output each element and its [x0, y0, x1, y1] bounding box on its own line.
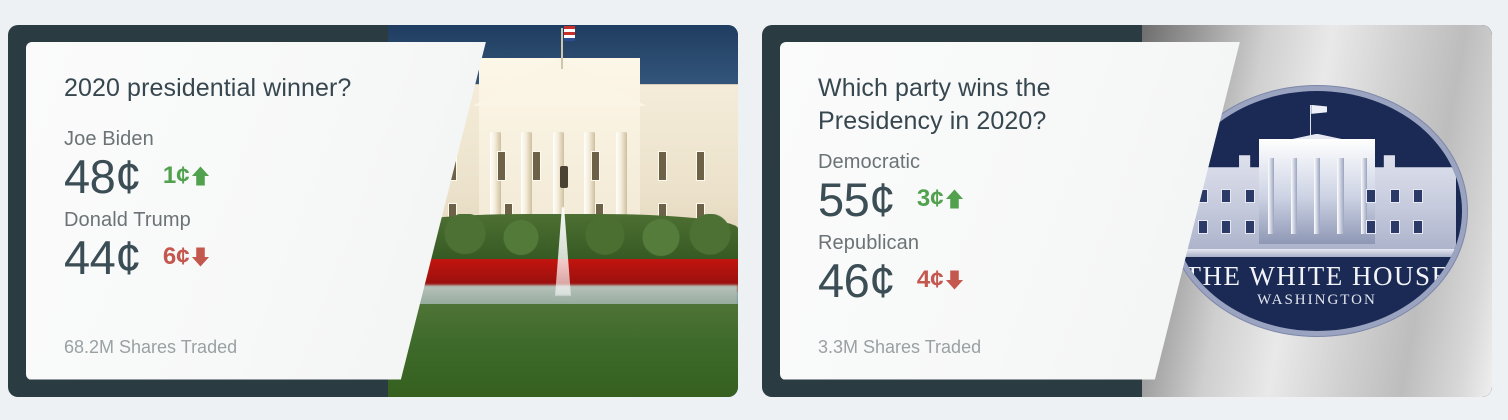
photo-window: [658, 151, 667, 181]
outcome-change-up: 1¢: [163, 164, 210, 188]
seal-column: [1291, 158, 1297, 235]
market-card-presidential-winner[interactable]: 2020 presidential winner? Joe Biden 48¢ …: [8, 25, 738, 397]
arrow-up-icon: [191, 165, 210, 187]
outcome-change-down: 6¢: [163, 245, 210, 269]
arrow-up-icon: [945, 188, 964, 210]
seal-window: [1366, 220, 1376, 234]
outcome-change-down: 4¢: [917, 268, 964, 292]
seal-column: [1314, 158, 1320, 235]
outcome-row[interactable]: Joe Biden 48¢ 1¢: [64, 127, 486, 204]
photo-window: [497, 151, 506, 181]
outcome-price: 44¢: [64, 231, 141, 285]
arrow-down-icon: [945, 269, 964, 291]
seal-column: [1268, 158, 1274, 235]
seal-window: [1390, 189, 1400, 203]
seal-window: [1221, 220, 1231, 234]
seal-window: [1366, 189, 1376, 203]
outcome-row[interactable]: Democratic 55¢ 3¢: [818, 150, 1240, 227]
photo-us-flag: [564, 26, 575, 41]
seal-window: [1413, 189, 1423, 203]
outcome-price: 48¢: [64, 150, 141, 204]
seal-window: [1245, 220, 1255, 234]
shares-traded-label: 68.2M Shares Traded: [64, 337, 237, 358]
outcome-change-value: 6¢: [163, 245, 190, 269]
photo-window: [696, 151, 705, 181]
outcome-price: 46¢: [818, 254, 895, 308]
outcome-list: Democratic 55¢ 3¢ Republican: [818, 150, 1240, 308]
arrow-down-icon: [191, 246, 210, 268]
outcome-price-row: 48¢ 1¢: [64, 150, 486, 204]
market-question-title: 2020 presidential winner?: [64, 72, 374, 105]
market-card-party-wins-presidency[interactable]: THE WHITE HOUSE WASHINGTON Which party w…: [762, 25, 1492, 397]
seal-window: [1245, 189, 1255, 203]
outcome-change-up: 3¢: [917, 187, 964, 211]
seal-column: [1337, 158, 1343, 235]
outcome-name: Donald Trump: [64, 208, 486, 233]
seal-window: [1198, 220, 1208, 234]
outcome-row[interactable]: Donald Trump 44¢ 6¢: [64, 208, 486, 285]
seal-basement-line: [1178, 249, 1456, 257]
market-question-title: Which party wins the Presidency in 2020?: [818, 72, 1128, 138]
seal-window: [1413, 220, 1423, 234]
photo-window: [591, 151, 600, 181]
outcome-change-value: 3¢: [917, 187, 944, 211]
shares-traded-label: 3.3M Shares Traded: [818, 337, 981, 358]
outcome-list: Joe Biden 48¢ 1¢ Donald Trump: [64, 127, 486, 285]
seal-flag: [1310, 105, 1312, 136]
market-card-row: 2020 presidential winner? Joe Biden 48¢ …: [0, 0, 1508, 420]
outcome-name: Joe Biden: [64, 127, 486, 152]
photo-lantern: [560, 166, 568, 188]
seal-title-text: THE WHITE HOUSE: [1172, 261, 1462, 292]
outcome-name: Republican: [818, 231, 1240, 256]
photo-window: [532, 151, 541, 181]
seal-subtitle-text: WASHINGTON: [1172, 292, 1462, 309]
outcome-name: Democratic: [818, 150, 1240, 175]
seal-window: [1221, 189, 1231, 203]
outcome-change-value: 4¢: [917, 268, 944, 292]
outcome-price-row: 55¢ 3¢: [818, 173, 1240, 227]
photo-lawn: [388, 304, 738, 397]
seal-window: [1390, 220, 1400, 234]
outcome-price: 55¢: [818, 173, 895, 227]
outcome-change-value: 1¢: [163, 164, 190, 188]
outcome-price-row: 44¢ 6¢: [64, 231, 486, 285]
